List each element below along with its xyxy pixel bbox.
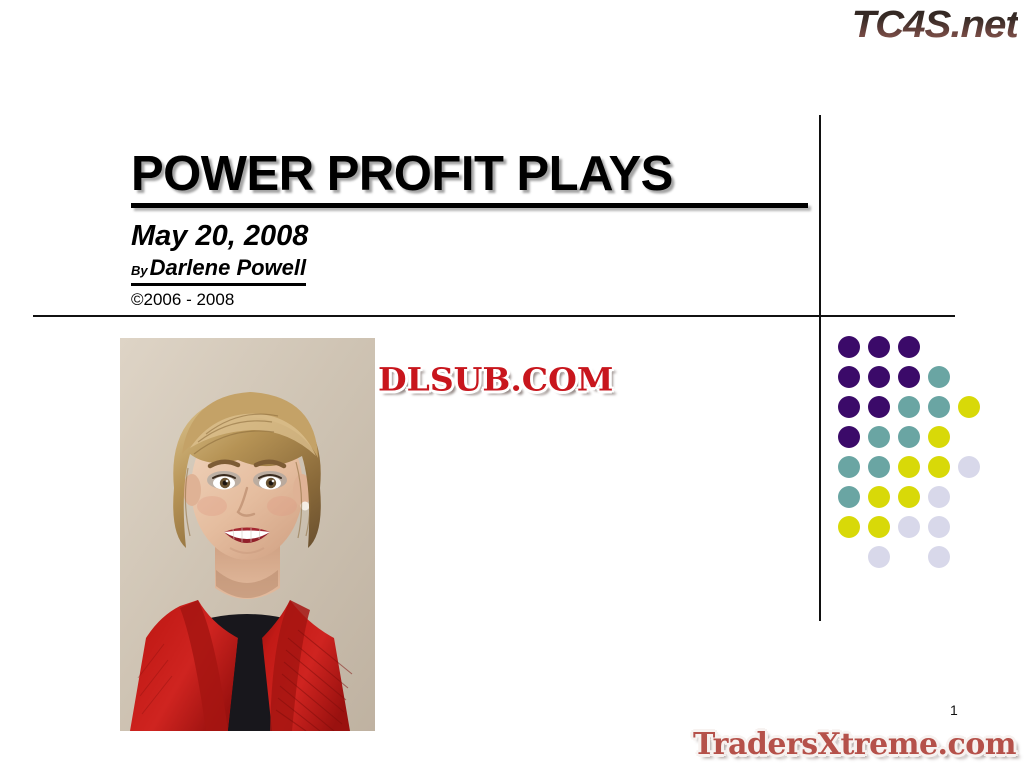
byline: ByDarlene Powell xyxy=(131,257,306,286)
vertical-divider-rule xyxy=(819,115,821,621)
decorative-dot xyxy=(838,426,860,448)
decorative-dot xyxy=(838,486,860,508)
decorative-dot xyxy=(898,366,920,388)
decorative-dot xyxy=(898,486,920,508)
decorative-dot xyxy=(868,426,890,448)
decorative-dot xyxy=(958,396,980,418)
decorative-dot xyxy=(838,396,860,418)
byline-prefix: By xyxy=(131,263,148,278)
decorative-dot xyxy=(868,546,890,568)
decorative-dot xyxy=(898,516,920,538)
presenter-portrait-photo xyxy=(120,338,375,731)
decorative-dot xyxy=(838,366,860,388)
decorative-dot xyxy=(868,366,890,388)
watermark-dlsub: DLSUB.COM xyxy=(378,362,613,398)
decorative-dot xyxy=(868,486,890,508)
decorative-dot xyxy=(928,426,950,448)
decorative-dot xyxy=(898,456,920,478)
horizontal-divider-rule xyxy=(33,315,955,317)
copyright-notice: ©2006 - 2008 xyxy=(131,290,801,310)
slide-title: POWER PROFIT PLAYS xyxy=(131,148,801,200)
decorative-dot xyxy=(958,456,980,478)
decorative-dot xyxy=(928,366,950,388)
page-number: 1 xyxy=(950,702,958,718)
brand-logo-tc4s: TC4S.net xyxy=(852,2,1018,48)
title-block: POWER PROFIT PLAYS May 20, 2008 ByDarlen… xyxy=(131,148,801,310)
portrait-illustration xyxy=(120,338,375,731)
decorative-dot xyxy=(898,336,920,358)
decorative-dot xyxy=(928,546,950,568)
decorative-dot xyxy=(868,456,890,478)
decorative-dot xyxy=(928,396,950,418)
decorative-dot-matrix xyxy=(838,336,1013,591)
decorative-dot xyxy=(868,336,890,358)
decorative-dot xyxy=(928,516,950,538)
decorative-dot xyxy=(898,396,920,418)
decorative-dot xyxy=(838,336,860,358)
decorative-dot xyxy=(838,516,860,538)
decorative-dot xyxy=(928,456,950,478)
brand-logo-tradersxtreme: TradersXtreme.com xyxy=(693,726,1016,764)
decorative-dot xyxy=(868,396,890,418)
decorative-dot xyxy=(838,456,860,478)
presentation-slide: TC4S.net POWER PROFIT PLAYS May 20, 2008… xyxy=(0,0,1024,768)
byline-author-name: Darlene Powell xyxy=(150,255,307,280)
decorative-dot xyxy=(898,426,920,448)
title-underline-bar xyxy=(131,203,808,208)
slide-date: May 20, 2008 xyxy=(131,220,801,252)
decorative-dot xyxy=(928,486,950,508)
decorative-dot xyxy=(868,516,890,538)
